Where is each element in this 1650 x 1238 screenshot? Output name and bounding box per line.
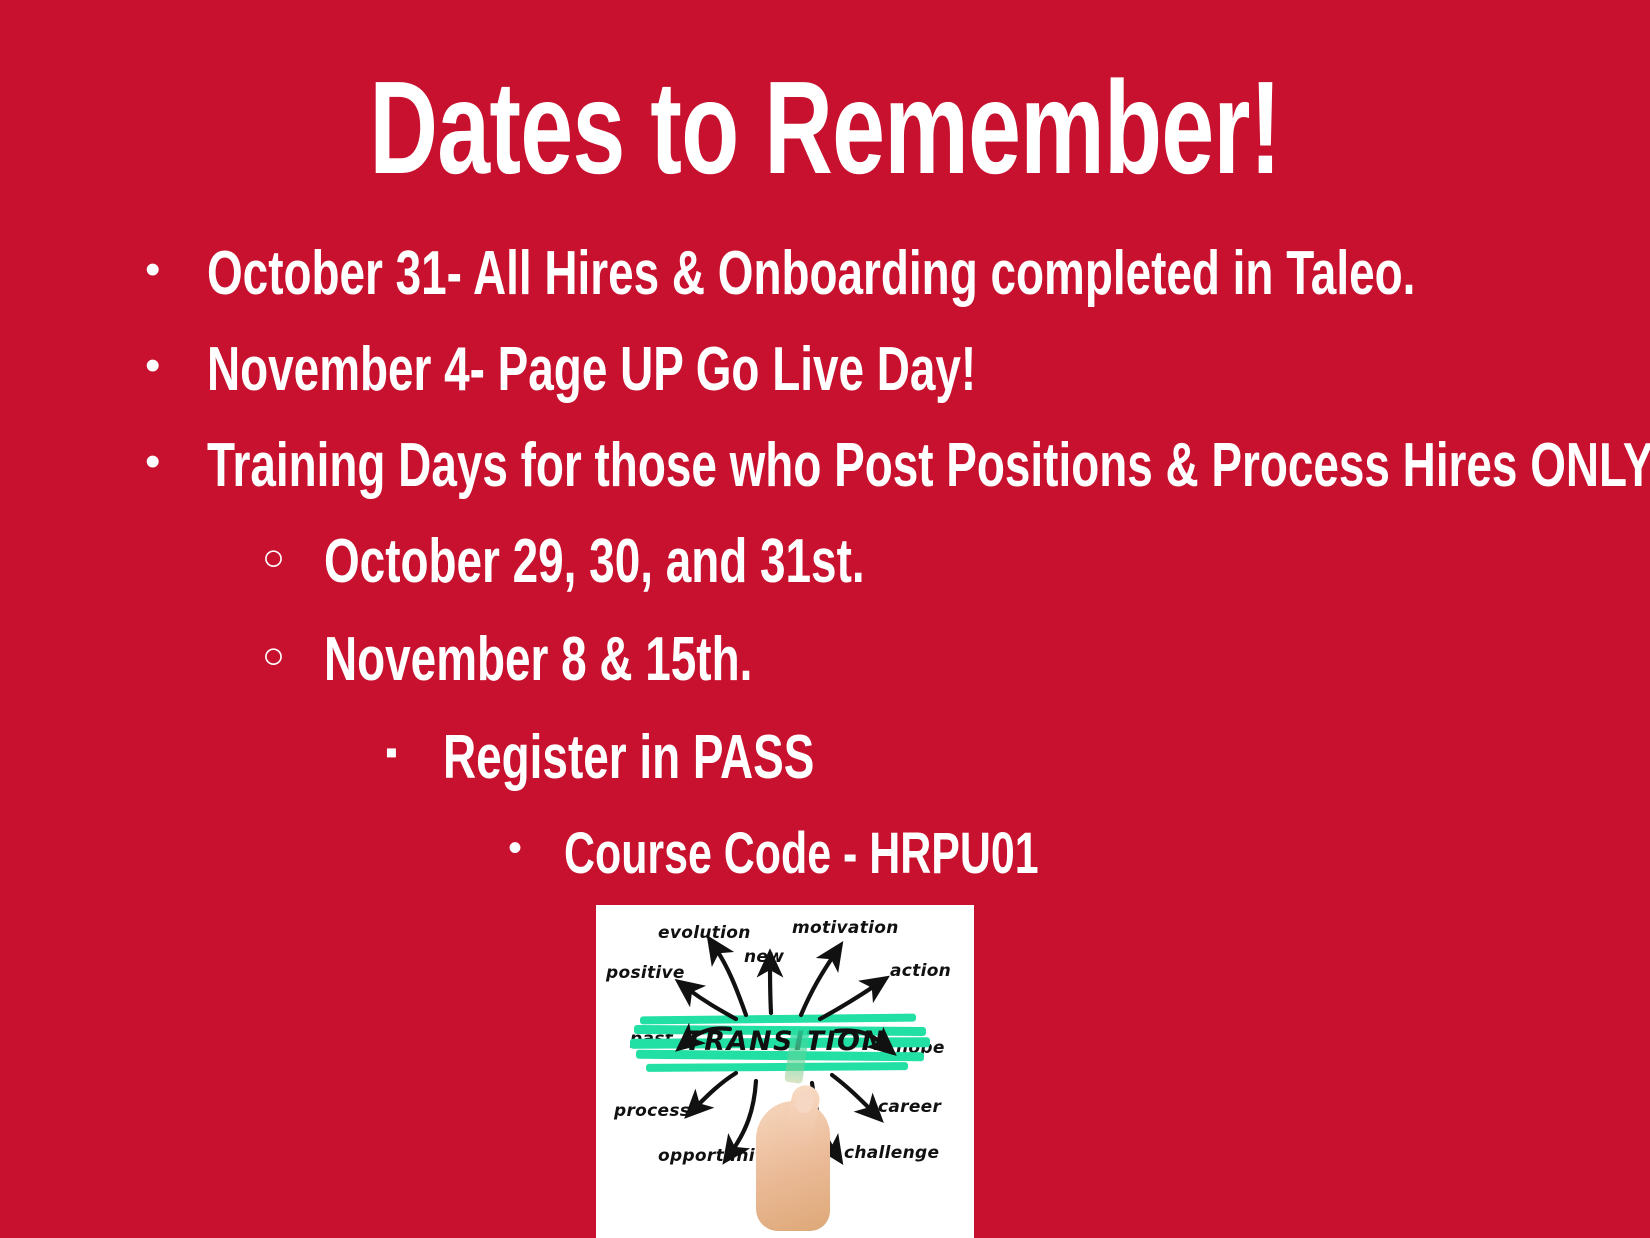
list-item-label: October 31- All Hires & Onboarding compl… [207,238,1415,309]
list-item-label: October 29, 30, and 31st. [324,526,865,597]
hollow-bullet-icon: ○ [262,539,324,577]
page-title: Dates to Remember! [231,62,1419,194]
hollow-bullet-icon: ○ [262,637,324,675]
list-item-label: Register in PASS [443,722,814,793]
mindmap-center-word: TRANSITION [684,1026,885,1057]
list-item-label: Training Days for those who Post Positio… [207,430,1650,501]
filled-bullet-icon: • [508,828,564,868]
list-item: • Training Days for those who Post Posit… [0,430,1650,526]
slide-canvas: Dates to Remember! • October 31- All Hir… [0,0,1650,1238]
list-item: • November 4- Page UP Go Live Day! [0,334,1650,430]
list-item-label: November 4- Page UP Go Live Day! [207,334,976,405]
list-item: • October 31- All Hires & Onboarding com… [0,238,1650,334]
transition-mindmap-image: TRANSITION evolution motivation new posi… [596,905,974,1238]
list-item-label: Course Code - HRPU01 [564,820,1039,887]
mindmap-graphic: TRANSITION evolution motivation new posi… [596,905,974,1238]
filled-bullet-icon: • [145,248,207,292]
hand-holding-marker-icon [750,1073,836,1238]
filled-bullet-icon: • [145,344,207,388]
list-item-label: November 8 & 15th. [324,624,752,695]
list-item: ○ November 8 & 15th. [0,624,1650,722]
list-item: ▪ Register in PASS [0,722,1650,820]
list-item: ○ October 29, 30, and 31st. [0,526,1650,624]
list-item: • Course Code - HRPU01 [0,820,1650,918]
dates-bullet-list: • October 31- All Hires & Onboarding com… [0,238,1650,918]
square-bullet-icon: ▪ [385,734,443,770]
filled-bullet-icon: • [145,440,207,484]
